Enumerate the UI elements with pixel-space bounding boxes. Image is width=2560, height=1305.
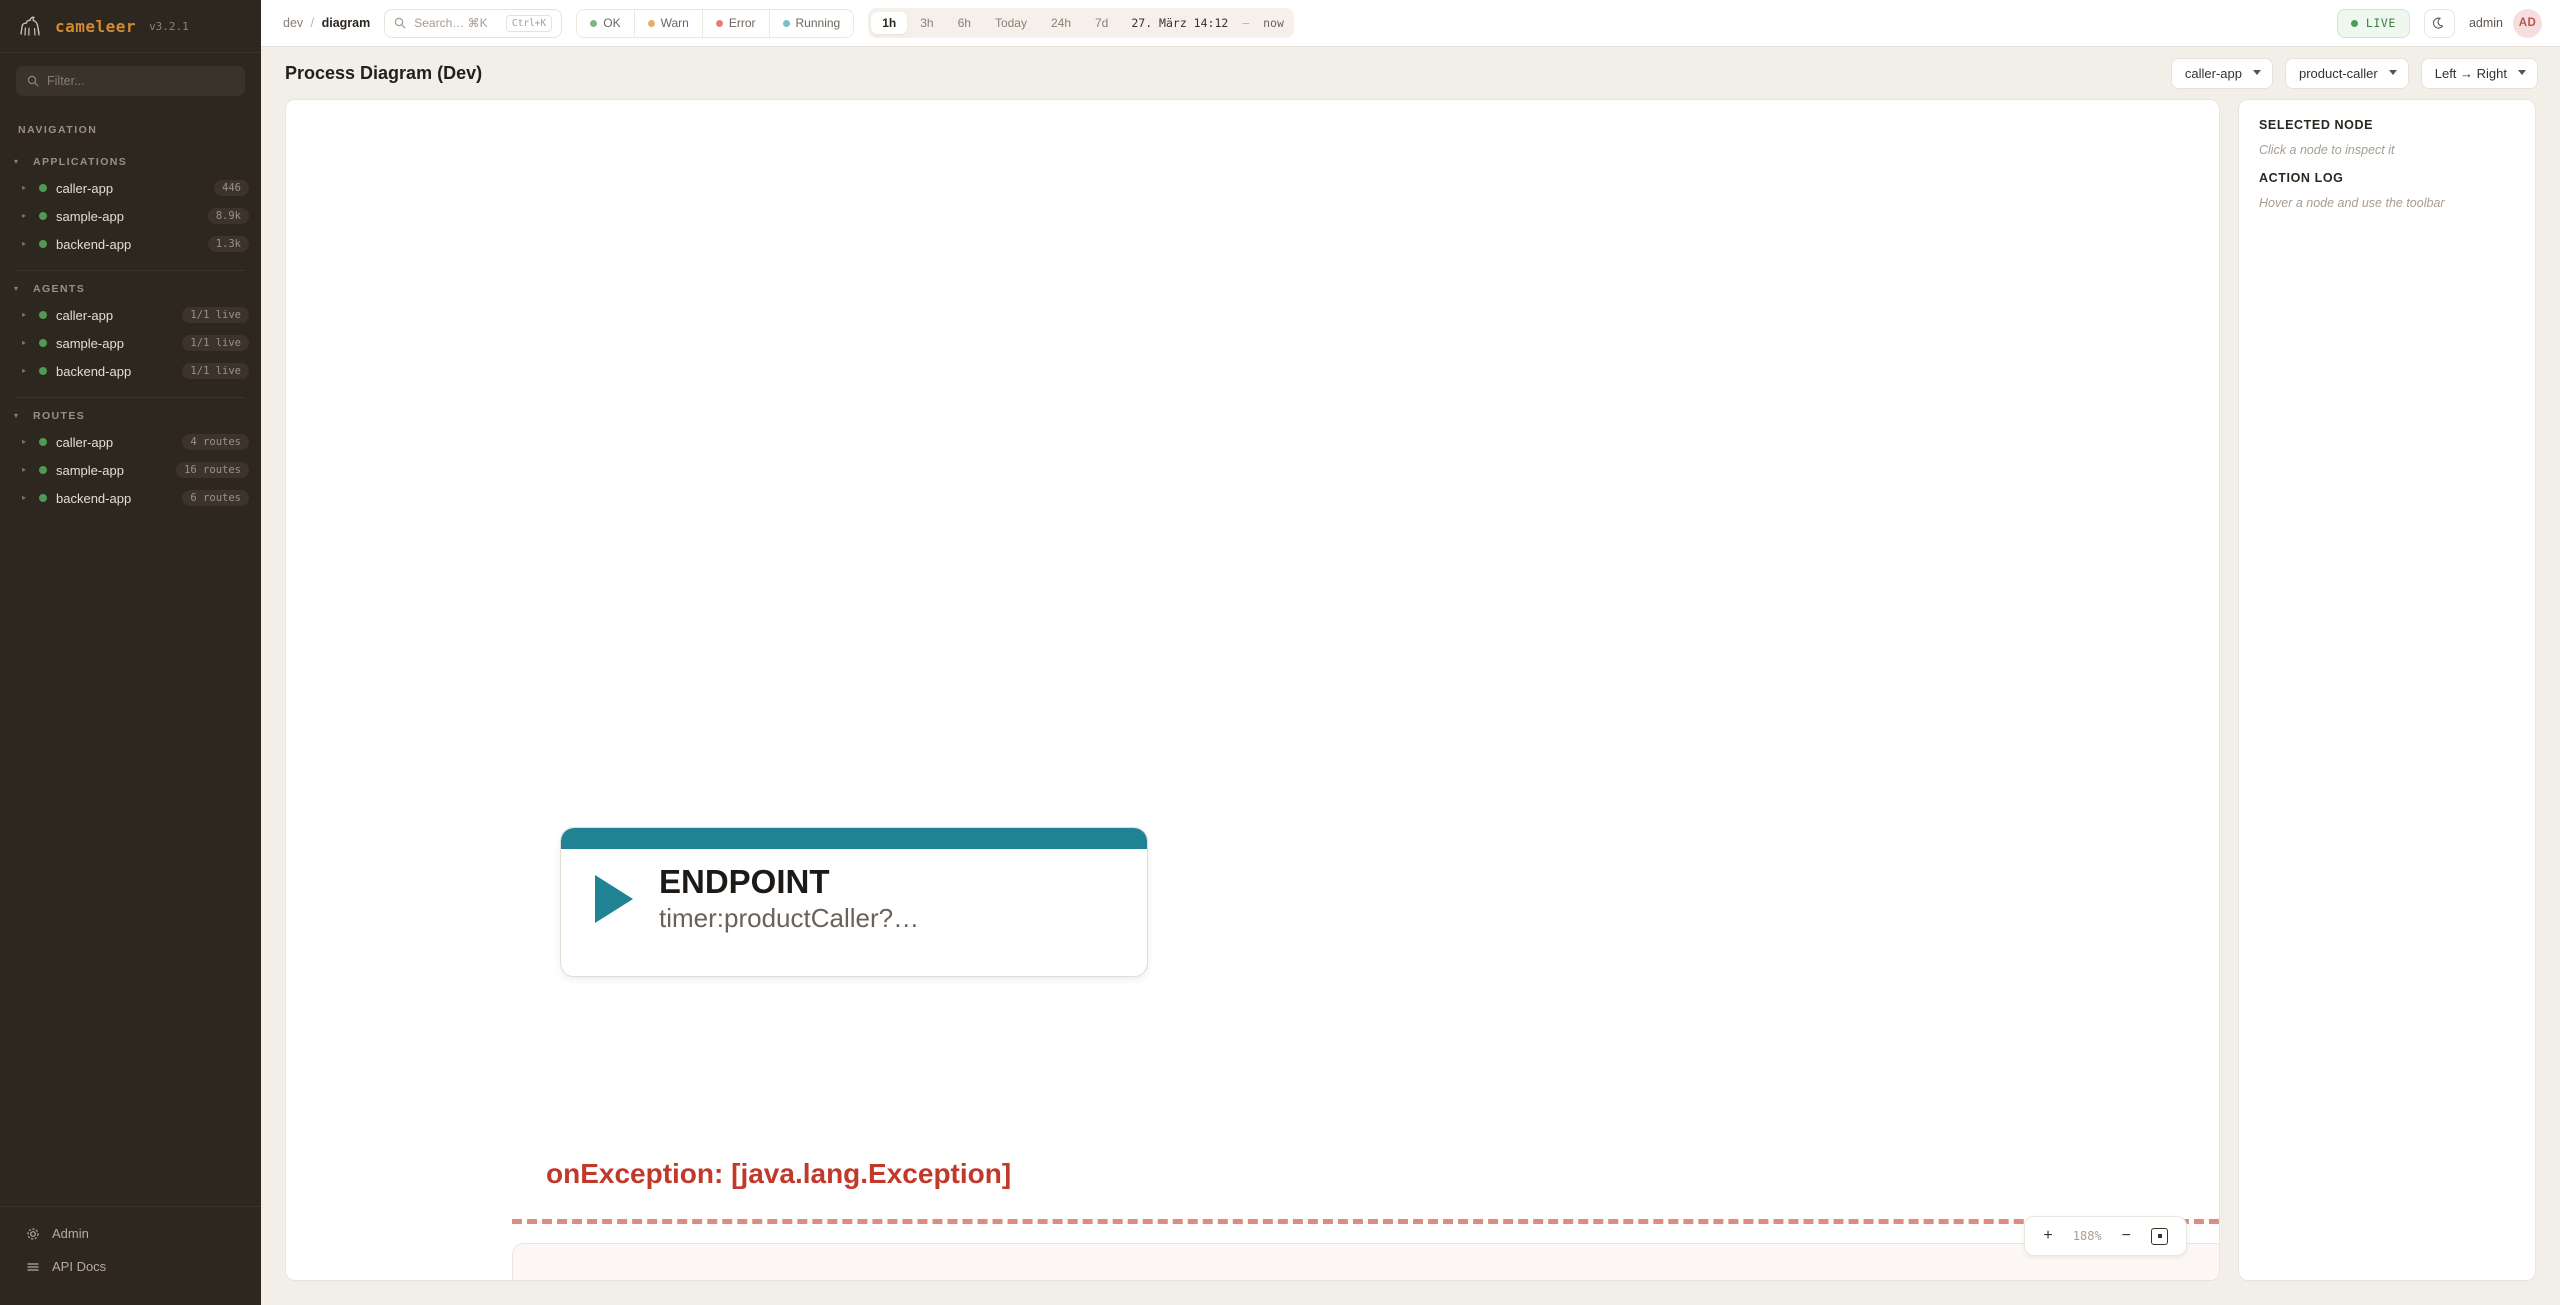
chevron-right-icon: ▸: [22, 494, 30, 502]
sidebar-item-api-docs[interactable]: API Docs: [0, 1250, 261, 1283]
item-label: caller-app: [56, 308, 173, 323]
chevron-right-icon: ▸: [22, 466, 30, 474]
status-label: Warn: [661, 16, 689, 30]
zoom-level-value: 188%: [2073, 1229, 2102, 1243]
gear-icon: [26, 1227, 40, 1241]
live-badge[interactable]: LIVE: [2337, 9, 2410, 38]
item-label: backend-app: [56, 364, 173, 379]
status-dot: [39, 212, 47, 220]
chevron-right-icon: ▸: [22, 240, 30, 248]
status-dot: [39, 466, 47, 474]
divider: [16, 270, 245, 271]
group-label: AGENTS: [33, 283, 85, 295]
sidebar-footer: Admin API Docs: [0, 1206, 261, 1305]
nav-group-agents: ▾ AGENTS ▸ caller-app 1/1 live ▸ sample-…: [0, 277, 261, 385]
breadcrumb-root[interactable]: dev: [283, 16, 303, 30]
item-label: sample-app: [56, 209, 199, 224]
search-input[interactable]: Search… ⌘K Ctrl+K: [384, 9, 562, 38]
status-dot: [783, 20, 790, 27]
item-badge: 4 routes: [182, 434, 249, 450]
filter-input[interactable]: [47, 74, 234, 88]
status-dot: [39, 494, 47, 502]
breadcrumb-current: diagram: [322, 16, 371, 30]
group-header-agents[interactable]: ▾ AGENTS: [0, 277, 261, 301]
exception-label: onException: [java.lang.Exception]: [546, 1158, 1011, 1190]
diagram-node-endpoint[interactable]: ENDPOINT timer:productCaller?…: [560, 827, 1148, 977]
status-filter-running[interactable]: Running: [770, 10, 854, 37]
search-icon: [394, 17, 406, 29]
status-dot: [648, 20, 655, 27]
chevron-down-icon: ▾: [14, 285, 23, 293]
status-dot: [716, 20, 723, 27]
time-range-6h[interactable]: 6h: [947, 12, 982, 34]
group-header-applications[interactable]: ▾ APPLICATIONS: [0, 150, 261, 174]
item-badge: 1/1 live: [182, 363, 249, 379]
filter-box[interactable]: [16, 66, 245, 96]
chevron-right-icon: ▸: [22, 184, 30, 192]
status-label: OK: [603, 16, 620, 30]
status-filter-group: OK Warn Error Running: [576, 9, 854, 38]
application-select-value: caller-app: [2185, 66, 2242, 81]
item-badge: 8.9k: [208, 208, 249, 224]
sidebar-item-agents-sample-app[interactable]: ▸ sample-app 1/1 live: [0, 329, 261, 357]
direction-select-value: Left → Right: [2435, 66, 2507, 81]
chevron-down-icon: [2389, 70, 2397, 75]
chevron-down-icon: [2253, 70, 2261, 75]
action-log-hint: Hover a node and use the toolbar: [2259, 196, 2515, 210]
search-placeholder: Search… ⌘K: [414, 16, 498, 30]
chevron-right-icon: ▸: [22, 212, 30, 220]
app-root: cameleer v3.2.1 NAVIGATION ▾ APPLICATION…: [0, 0, 2560, 1305]
chevron-right-icon: ▸: [22, 311, 30, 319]
item-badge: 1/1 live: [182, 307, 249, 323]
item-badge: 16 routes: [176, 462, 249, 478]
live-dot: [2351, 20, 2358, 27]
nav-group-applications: ▾ APPLICATIONS ▸ caller-app 446 ▸ sample…: [0, 150, 261, 258]
item-label: caller-app: [56, 435, 173, 450]
status-dot: [39, 367, 47, 375]
theme-toggle-button[interactable]: [2424, 9, 2455, 38]
user-name: admin: [2469, 16, 2503, 30]
chevron-right-icon: ▸: [22, 367, 30, 375]
time-range-start: 27. März 14:12: [1131, 16, 1228, 30]
time-range-dash: —: [1242, 16, 1249, 30]
node-kind-label: ENDPOINT: [659, 863, 919, 901]
status-dot: [590, 20, 597, 27]
fit-screen-icon[interactable]: [2151, 1228, 2168, 1245]
item-badge: 6 routes: [182, 490, 249, 506]
sidebar-item-applications-caller-app[interactable]: ▸ caller-app 446: [0, 174, 261, 202]
selected-node-heading: SELECTED NODE: [2259, 118, 2515, 132]
item-label: backend-app: [56, 491, 173, 506]
time-range-3h[interactable]: 3h: [909, 12, 944, 34]
sidebar-item-agents-caller-app[interactable]: ▸ caller-app 1/1 live: [0, 301, 261, 329]
list-icon: [26, 1260, 40, 1274]
live-label: LIVE: [2366, 16, 2396, 30]
status-dot: [39, 184, 47, 192]
route-select-value: product-caller: [2299, 66, 2378, 81]
topbar: dev / diagram Search… ⌘K Ctrl+K OK: [261, 0, 2560, 47]
sidebar-item-routes-backend-app[interactable]: ▸ backend-app 6 routes: [0, 484, 261, 512]
zoom-in-button[interactable]: +: [2043, 1228, 2052, 1244]
sidebar-item-agents-backend-app[interactable]: ▸ backend-app 1/1 live: [0, 357, 261, 385]
nav-group-routes: ▾ ROUTES ▸ caller-app 4 routes ▸ sample-…: [0, 404, 261, 512]
application-select[interactable]: caller-app: [2171, 58, 2273, 89]
node-text-block: ENDPOINT timer:productCaller?…: [659, 863, 919, 934]
item-label: sample-app: [56, 336, 173, 351]
user-menu[interactable]: admin AD: [2469, 9, 2542, 38]
breadcrumb-separator: /: [311, 16, 314, 30]
status-filter-error[interactable]: Error: [703, 10, 770, 37]
selected-node-hint: Click a node to inspect it: [2259, 143, 2515, 157]
status-filter-ok[interactable]: OK: [577, 10, 634, 37]
time-range-7d[interactable]: 7d: [1084, 12, 1119, 34]
sidebar-item-label: Admin: [52, 1226, 89, 1241]
divider: [16, 397, 245, 398]
status-dot: [39, 311, 47, 319]
navigation: NAVIGATION ▾ APPLICATIONS ▸ caller-app 4…: [0, 104, 261, 1206]
status-dot: [39, 339, 47, 347]
time-range-end: now: [1263, 16, 1284, 30]
node-body: ENDPOINT timer:productCaller?…: [561, 849, 1147, 934]
item-label: sample-app: [56, 463, 167, 478]
time-range-24h[interactable]: 24h: [1040, 12, 1082, 34]
main-area: dev / diagram Search… ⌘K Ctrl+K OK: [261, 0, 2560, 1305]
status-label: Error: [729, 16, 756, 30]
sidebar-item-label: API Docs: [52, 1259, 106, 1274]
inspector-panel: SELECTED NODE Click a node to inspect it…: [2238, 99, 2536, 1281]
chevron-down-icon: [2518, 70, 2526, 75]
item-label: caller-app: [56, 181, 205, 196]
status-dot: [39, 240, 47, 248]
zoom-controls: + 188% −: [2024, 1216, 2187, 1256]
node-header-bar: [561, 828, 1147, 849]
sidebar-item-admin[interactable]: Admin: [0, 1217, 261, 1250]
moon-icon: [2432, 16, 2447, 31]
chevron-down-icon: ▾: [14, 412, 23, 420]
breadcrumb[interactable]: dev / diagram: [283, 16, 370, 30]
page-title: Process Diagram (Dev): [285, 63, 482, 84]
page-header: Process Diagram (Dev) caller-app product…: [261, 47, 2560, 99]
time-range-group: 1h 3h 6h Today 24h 7d 27. März 14:12 — n…: [868, 8, 1294, 38]
brand-version: v3.2.1: [149, 20, 189, 33]
time-range-1h[interactable]: 1h: [871, 12, 907, 34]
time-range-today[interactable]: Today: [984, 12, 1038, 34]
status-filter-warn[interactable]: Warn: [635, 10, 703, 37]
status-label: Running: [796, 16, 841, 30]
content-area: ENDPOINT timer:productCaller?… onExcepti…: [261, 99, 2560, 1305]
action-log-heading: ACTION LOG: [2259, 171, 2515, 185]
play-icon: [595, 875, 633, 923]
sidebar: cameleer v3.2.1 NAVIGATION ▾ APPLICATION…: [0, 0, 261, 1305]
avatar: AD: [2513, 9, 2542, 38]
group-label: ROUTES: [33, 410, 85, 422]
status-dot: [39, 438, 47, 446]
sidebar-item-applications-sample-app[interactable]: ▸ sample-app 8.9k: [0, 202, 261, 230]
item-badge: 446: [214, 180, 249, 196]
time-range-absolute[interactable]: 27. März 14:12 — now: [1131, 16, 1284, 30]
navigation-title: NAVIGATION: [0, 114, 261, 144]
chevron-down-icon: ▾: [14, 158, 23, 166]
diagram-canvas[interactable]: ENDPOINT timer:productCaller?… onExcepti…: [285, 99, 2220, 1281]
brand-name: cameleer: [55, 17, 136, 36]
zoom-out-button[interactable]: −: [2122, 1228, 2131, 1244]
sidebar-item-applications-backend-app[interactable]: ▸ backend-app 1.3k: [0, 230, 261, 258]
search-shortcut-badge: Ctrl+K: [506, 15, 552, 32]
route-select[interactable]: product-caller: [2285, 58, 2409, 89]
sidebar-item-routes-sample-app[interactable]: ▸ sample-app 16 routes: [0, 456, 261, 484]
item-badge: 1.3k: [208, 236, 249, 252]
filter-section: [0, 53, 261, 104]
group-header-routes[interactable]: ▾ ROUTES: [0, 404, 261, 428]
group-label: APPLICATIONS: [33, 156, 127, 168]
chevron-right-icon: ▸: [22, 339, 30, 347]
sidebar-item-routes-caller-app[interactable]: ▸ caller-app 4 routes: [0, 428, 261, 456]
camel-icon: [18, 14, 44, 38]
search-icon: [27, 75, 39, 87]
item-label: backend-app: [56, 237, 199, 252]
chevron-right-icon: ▸: [22, 438, 30, 446]
exception-zone-box: [512, 1243, 2220, 1281]
item-badge: 1/1 live: [182, 335, 249, 351]
direction-select[interactable]: Left → Right: [2421, 58, 2538, 89]
brand[interactable]: cameleer v3.2.1: [0, 0, 261, 53]
node-uri-label: timer:productCaller?…: [659, 903, 919, 934]
